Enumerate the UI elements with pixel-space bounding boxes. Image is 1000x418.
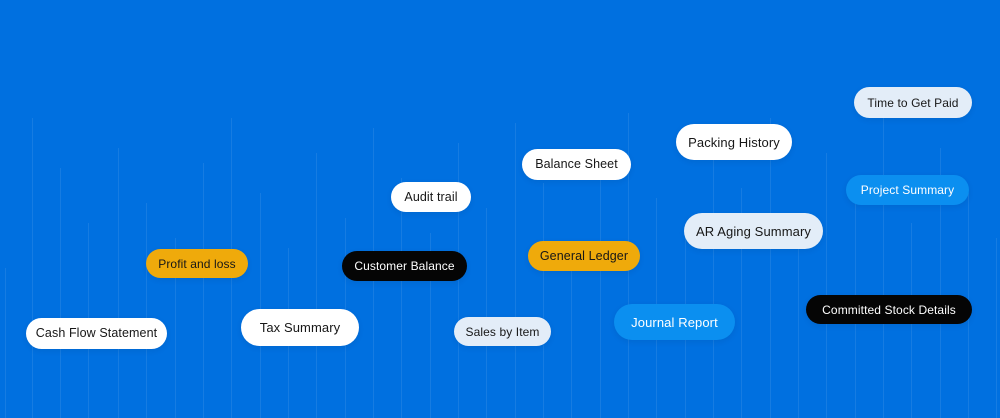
report-pill-label: Time to Get Paid [867, 97, 958, 109]
report-pill-label: Project Summary [861, 184, 955, 196]
report-pill[interactable]: Balance Sheet [522, 149, 631, 180]
report-pill-label: General Ledger [540, 250, 628, 263]
report-pill-label: Audit trail [404, 191, 457, 204]
report-pill[interactable]: AR Aging Summary [684, 213, 823, 249]
gridline [60, 168, 61, 418]
report-pill[interactable]: Journal Report [614, 304, 735, 340]
report-pill-label: Cash Flow Statement [36, 327, 157, 340]
report-pill-label: Journal Report [631, 316, 718, 329]
report-pill[interactable]: Time to Get Paid [854, 87, 972, 118]
report-pill[interactable]: Packing History [676, 124, 792, 160]
report-pill[interactable]: Audit trail [391, 182, 471, 212]
gridline [770, 118, 771, 418]
background-gridlines [0, 0, 1000, 418]
gridline [543, 183, 544, 418]
gridline [401, 178, 402, 418]
report-pill[interactable]: Tax Summary [241, 309, 359, 346]
gridline [883, 108, 884, 418]
report-pill-label: Sales by Item [466, 326, 540, 338]
report-pill-label: Committed Stock Details [822, 304, 956, 316]
report-pill[interactable]: Cash Flow Statement [26, 318, 167, 349]
gridline [5, 268, 6, 418]
report-pill[interactable]: Sales by Item [454, 317, 551, 346]
gridline [826, 153, 827, 418]
gridline [118, 148, 119, 418]
report-pill[interactable]: Profit and loss [146, 249, 248, 278]
gridline [515, 123, 516, 418]
gridline [486, 208, 487, 418]
gridline [32, 118, 33, 418]
gridline [146, 203, 147, 418]
report-pill-label: Profit and loss [158, 258, 236, 270]
report-pill[interactable]: General Ledger [528, 241, 640, 271]
gridline [316, 153, 317, 418]
report-pill-label: Customer Balance [354, 260, 454, 272]
gridline [260, 193, 261, 418]
report-pill-label: Packing History [688, 136, 780, 149]
report-pill-label: AR Aging Summary [696, 225, 811, 238]
gridline [600, 158, 601, 418]
gridline [713, 138, 714, 418]
report-pill[interactable]: Customer Balance [342, 251, 467, 281]
gridline [203, 163, 204, 418]
report-pill[interactable]: Project Summary [846, 175, 969, 205]
report-pill[interactable]: Committed Stock Details [806, 295, 972, 324]
gridline [996, 238, 997, 418]
report-pill-cloud: Time to Get PaidPacking HistoryBalance S… [0, 0, 1000, 418]
report-pill-label: Balance Sheet [535, 158, 618, 171]
report-pill-label: Tax Summary [260, 321, 341, 334]
